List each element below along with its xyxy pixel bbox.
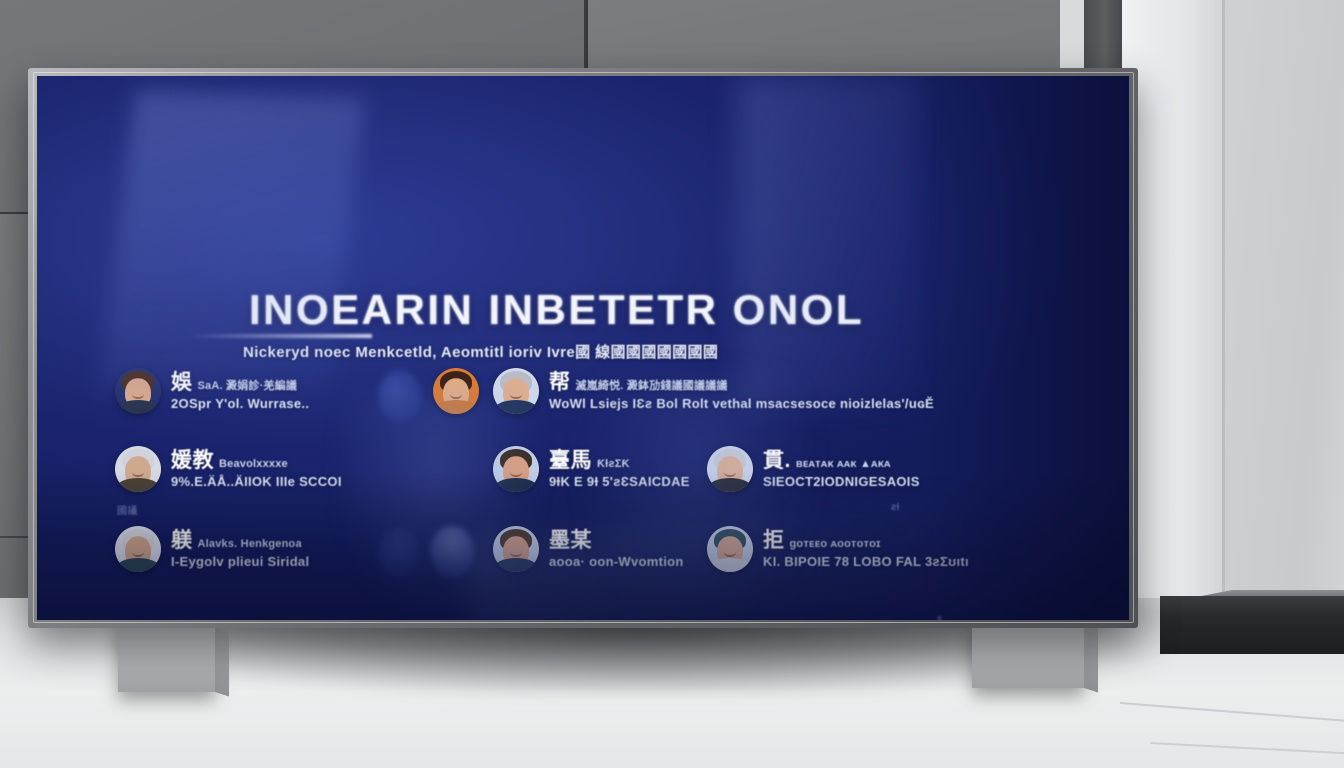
- screen-reflection-column: [737, 76, 917, 406]
- tv-stand-foot-left: [118, 628, 215, 692]
- tv-stand-foot-right: [972, 624, 1084, 688]
- television-display[interactable]: INOEARIN INBETETR ONOL Nickeryd noec Men…: [28, 68, 1138, 628]
- screen-reflection-softbox: [99, 90, 365, 398]
- dark-plinth: [1160, 596, 1344, 654]
- tv-stand-foot-left-side: [215, 628, 229, 697]
- tv-screen[interactable]: INOEARIN INBETETR ONOL Nickeryd noec Men…: [37, 76, 1129, 620]
- far-right-wall: [1222, 0, 1344, 660]
- far-right-wall-edge: [1222, 0, 1225, 660]
- tv-stand-foot-right-side: [1084, 624, 1098, 693]
- screen-vignette-bottom: [37, 470, 1129, 620]
- speaker-affiliation: Beavolxxxxe: [219, 458, 288, 470]
- speaker-role: 2OSpr Y'ol. Wurrase..: [171, 396, 309, 411]
- room-scene: INOEARIN INBETETR ONOL Nickeryd noec Men…: [0, 0, 1344, 768]
